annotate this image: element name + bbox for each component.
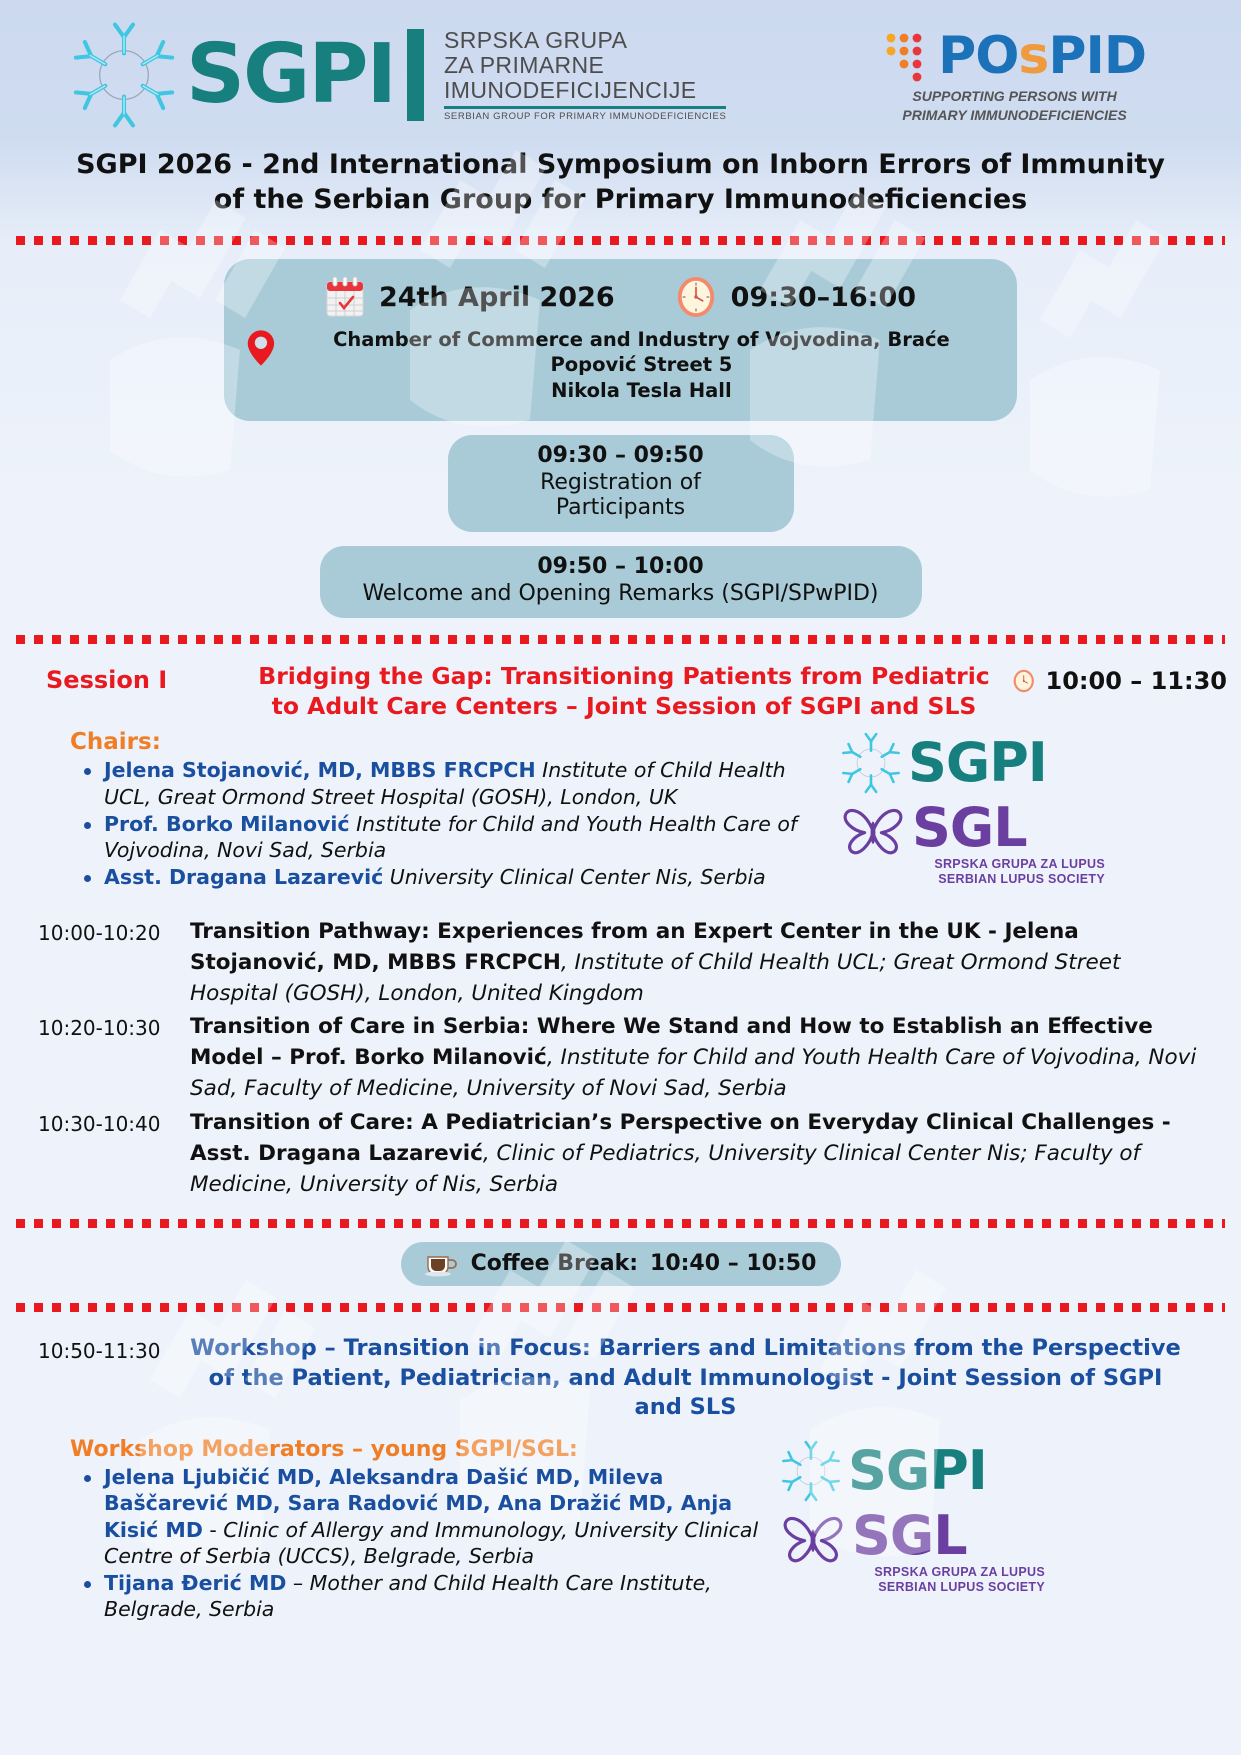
clock-icon [675, 275, 717, 319]
chairs-label: Chairs: [70, 729, 830, 755]
event-time-item: 09:30–16:00 [675, 275, 916, 319]
session-time: 10:00 – 11:30 [1046, 667, 1228, 695]
session-time-block: 10:00 – 11:30 [1012, 662, 1227, 698]
conference-program-poster: SGPI SRPSKA GRUPA ZA PRIMARNE IMUNODEFIC… [0, 0, 1241, 1755]
calendar-icon [325, 276, 365, 318]
antibody-rosette-icon [70, 21, 178, 129]
sgl-subtitle-line-1: SRPSKA GRUPA ZA LUPUS [840, 857, 1105, 872]
sgl-subtitle: SRPSKA GRUPA ZA LUPUS SERBIAN LUPUS SOCI… [780, 1565, 1045, 1595]
sgpi-logo: SGPI SRPSKA GRUPA ZA PRIMARNE IMUNODEFIC… [70, 21, 726, 129]
sgl-subtitle-line-2: SERBIAN LUPUS SOCIETY [840, 872, 1105, 887]
agenda-pill-welcome-time: 09:50 – 10:00 [354, 554, 888, 579]
moderator-dash: – [286, 1571, 309, 1595]
event-info-top-row: 24th April 2026 09:30–16:00 [246, 275, 995, 319]
antibody-rosette-icon [840, 732, 902, 794]
sgpi-wordmark: SGPI [186, 37, 395, 112]
sgl-subtitle-line-1: SRPSKA GRUPA ZA LUPUS [780, 1565, 1045, 1580]
talk-dash: - [1154, 1110, 1170, 1135]
talk-title: Transition of Care: A Pediatrician’s Per… [190, 1110, 1154, 1135]
sgl-subtitle: SRPSKA GRUPA ZA LUPUS SERBIAN LUPUS SOCI… [840, 857, 1105, 887]
list-item: Jelena Stojanović, MD, MBBS FRCPCH Insti… [70, 757, 830, 809]
sgl-logo: SGL SRPSKA GRUPA ZA LUPUS SERBIAN LUPUS … [840, 796, 1105, 887]
chair-affiliation: University Clinical Center Nis, Serbia [390, 865, 766, 889]
pospid-s: s [1018, 26, 1048, 86]
agenda-pill-registration-time: 09:30 – 09:50 [482, 443, 760, 468]
sgpi-subtitle-line-2: ZA PRIMARNE [444, 53, 726, 78]
clock-icon [1012, 664, 1036, 698]
sgl-wordmark: SGL [852, 1504, 967, 1567]
event-venue-line-1: Chamber of Commerce and Industry of Vojv… [288, 327, 995, 378]
event-time: 09:30–16:00 [731, 282, 916, 313]
sgl-subtitle-line-2: SERBIAN LUPUS SOCIETY [780, 1580, 1045, 1595]
talk-speaker: Prof. Borko Milanović [289, 1045, 547, 1070]
sgpi-subtitle-line-1: SRPSKA GRUPA [444, 28, 726, 53]
talk-dash: – [264, 1045, 290, 1070]
talk-time: 10:00-10:20 [38, 916, 190, 1010]
butterfly-icon [840, 799, 906, 857]
orange-red-dot-grid-icon [883, 28, 935, 84]
divider-dotted-3 [16, 1218, 1225, 1228]
pospid-subtitle-2: PRIMARY IMMUNODEFICIENCIES [883, 107, 1146, 124]
pospid-logo: POsPID SUPPORTING PERSONS WITH PRIMARY I… [883, 26, 1201, 123]
pospid-wordmark-row: POsPID [883, 26, 1146, 86]
talk-body: Transition of Care: A Pediatrician’s Per… [190, 1107, 1201, 1201]
event-date-item: 24th April 2026 [325, 276, 615, 318]
talk-row: 10:00-10:20 Transition Pathway: Experien… [38, 916, 1201, 1010]
divider-dotted-4 [16, 1302, 1225, 1312]
sgpi-rule [444, 106, 726, 109]
chairs-list-block: Chairs: Jelena Stojanović, MD, MBBS FRCP… [70, 729, 830, 891]
pospid-po: PO [938, 26, 1018, 86]
agenda-pill-registration: 09:30 – 09:50 Registration of Participan… [448, 435, 794, 532]
header-logo-row: SGPI SRPSKA GRUPA ZA PRIMARNE IMUNODEFIC… [0, 0, 1241, 140]
list-item: Prof. Borko Milanović Institute for Chil… [70, 811, 830, 863]
coffee-break-time: 10:40 – 10:50 [650, 1251, 816, 1276]
talk-speaker: Asst. Dragana Lazarević [190, 1141, 483, 1166]
workshop-moderators-block: Workshop Moderators – young SGPI/SGL: Je… [70, 1437, 770, 1623]
event-venue-item: Chamber of Commerce and Industry of Vojv… [246, 327, 995, 403]
chair-name: Asst. Dragana Lazarević [104, 865, 383, 889]
chairs-list: Jelena Stojanović, MD, MBBS FRCPCH Insti… [70, 757, 830, 890]
event-info-card: 24th April 2026 09:30–16:00 [224, 259, 1017, 421]
butterfly-icon [780, 1507, 846, 1565]
divider-dotted-1 [16, 235, 1225, 245]
agenda-pill-registration-label: Registration of Participants [482, 470, 760, 520]
event-venue: Chamber of Commerce and Industry of Vojv… [288, 327, 995, 403]
agenda-pill-welcome-label: Welcome and Opening Remarks (SGPI/SPwPID… [354, 581, 888, 606]
page-title: SGPI 2026 - 2nd International Symposium … [0, 140, 1241, 231]
event-venue-line-2: Nikola Tesla Hall [288, 378, 995, 403]
moderator-name: Tijana Đerić MD [104, 1571, 286, 1595]
coffee-break-pill: Coffee Break: 10:40 – 10:50 [401, 1242, 841, 1286]
sgpi-tagline: SERBIAN GROUP FOR PRIMARY IMMUNODEFICIEN… [444, 111, 726, 122]
workshop-side-logos: SGPI SGL SRPSKA GRUPA ZA LUPUS SERBIAN L… [780, 1437, 1045, 1623]
sgl-wordmark-row: SGL [840, 796, 1105, 859]
workshop-moderators-section: Workshop Moderators – young SGPI/SGL: Je… [0, 1423, 1241, 1623]
sgpi-small-wordmark: SGPI [848, 1439, 987, 1502]
talk-row: 10:30-10:40 Transition of Care: A Pediat… [38, 1107, 1201, 1201]
chairs-section: Chairs: Jelena Stojanović, MD, MBBS FRCP… [0, 721, 1241, 891]
sgpi-small-wordmark: SGPI [908, 731, 1047, 794]
pospid-subtitle-1: SUPPORTING PERSONS WITH [883, 88, 1146, 105]
moderator-dash: - [203, 1518, 223, 1542]
workshop-moderators-label: Workshop Moderators – young SGPI/SGL: [70, 1437, 770, 1462]
talk-body: Transition Pathway: Experiences from an … [190, 916, 1201, 1010]
sgpi-divider-bar [407, 29, 424, 121]
workshop-header: 10:50-11:30 Workshop – Transition in Foc… [0, 1316, 1241, 1423]
talk-time: 10:30-10:40 [38, 1107, 190, 1201]
session-side-logos: SGPI SGL SRPSKA GRUPA ZA LUPUS SERBIAN L… [840, 729, 1105, 891]
coffee-cup-icon [425, 1249, 459, 1277]
talk-dash: - [981, 919, 1005, 944]
talk-body: Transition of Care in Serbia: Where We S… [190, 1011, 1201, 1105]
pospid-pid: PID [1048, 26, 1146, 86]
sgpi-logo-small: SGPI [780, 1439, 1045, 1502]
session-title: Bridging the Gap: Transitioning Patients… [236, 662, 1012, 721]
page-title-line-1: SGPI 2026 - 2nd International Symposium … [60, 148, 1181, 183]
chair-name: Jelena Stojanović, MD, MBBS FRCPCH [104, 758, 536, 782]
list-item: Jelena Ljubičić MD, Aleksandra Dašić MD,… [70, 1464, 770, 1569]
talk-title: Transition Pathway: Experiences from an … [190, 919, 981, 944]
workshop-moderators-list: Jelena Ljubičić MD, Aleksandra Dašić MD,… [70, 1464, 770, 1622]
sgpi-subtitle-line-3: IMUNODEFICIJENCIJE [444, 78, 726, 103]
pospid-wordmark: POsPID [938, 26, 1146, 86]
workshop-time: 10:50-11:30 [38, 1334, 190, 1423]
talks-list: 10:00-10:20 Transition Pathway: Experien… [0, 892, 1241, 1201]
sgl-wordmark: SGL [912, 796, 1027, 859]
session-label: Session I [46, 662, 236, 694]
agenda-pill-welcome: 09:50 – 10:00 Welcome and Opening Remark… [320, 546, 922, 618]
sgpi-logo-small: SGPI [840, 731, 1105, 794]
list-item: Asst. Dragana Lazarević University Clini… [70, 864, 830, 890]
event-date: 24th April 2026 [379, 282, 615, 313]
divider-dotted-2 [16, 634, 1225, 644]
sgl-logo: SGL SRPSKA GRUPA ZA LUPUS SERBIAN LUPUS … [780, 1504, 1045, 1595]
session-header: Session I Bridging the Gap: Transitionin… [0, 648, 1241, 721]
antibody-rosette-icon [780, 1440, 842, 1502]
sgpi-subtitle-block: SRPSKA GRUPA ZA PRIMARNE IMUNODEFICIJENC… [432, 28, 726, 121]
page-title-line-2: of the Serbian Group for Primary Immunod… [60, 183, 1181, 218]
map-pin-icon [246, 325, 276, 371]
coffee-break-label: Coffee Break: [471, 1251, 638, 1276]
workshop-title: Workshop – Transition in Focus: Barriers… [190, 1334, 1181, 1423]
chair-name: Prof. Borko Milanović [104, 812, 350, 836]
sgl-wordmark-row: SGL [780, 1504, 1045, 1567]
talk-row: 10:20-10:30 Transition of Care in Serbia… [38, 1011, 1201, 1105]
talk-time: 10:20-10:30 [38, 1011, 190, 1105]
list-item: Tijana Đerić MD – Mother and Child Healt… [70, 1570, 770, 1622]
